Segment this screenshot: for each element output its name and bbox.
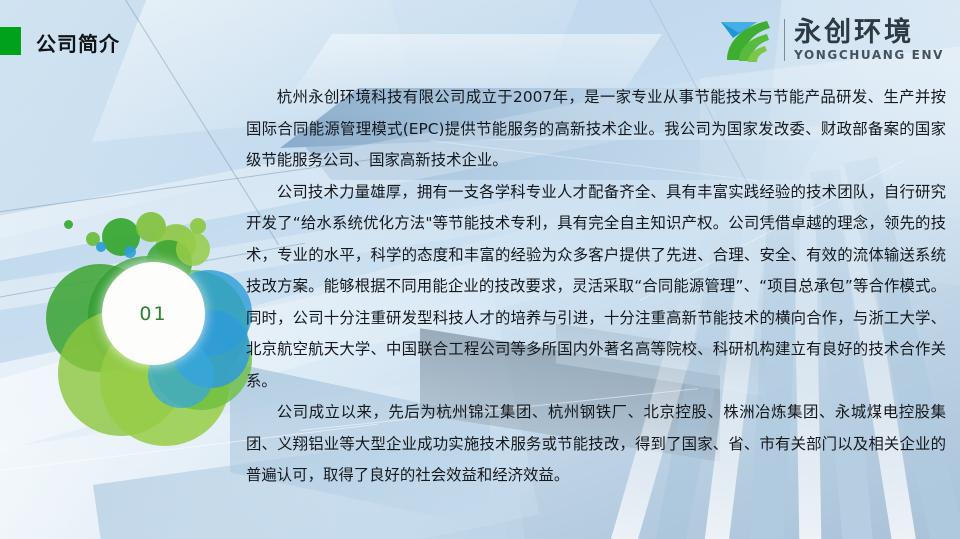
section-number-badge: 01 [40,212,255,427]
bubble [124,246,136,258]
bubble [64,220,73,229]
badge-number: 01 [102,262,205,365]
yongchuang-swoosh-icon [717,16,775,64]
company-logo: 永创环境 YONGCHUANG ENV [717,16,944,64]
bubble [96,242,106,252]
bubble [190,218,206,234]
slide-root: 公司简介 永创环境 YONGCHUANG ENV 01 杭州永创环境科技有限公司… [0,0,960,539]
logo-divider [784,19,785,61]
paragraph: 公司技术力量雄厚，拥有一支各学科专业人才配备齐全、具有丰富实践经验的技术团队，自… [246,177,946,398]
paragraph: 杭州永创环境科技有限公司成立于2007年，是一家专业从事节能技术与节能产品研发、… [246,82,946,177]
paragraph: 公司成立以来，先后为杭州锦江集团、杭州钢铁厂、北京控股、株洲冶炼集团、永城煤电控… [246,397,946,492]
logo-english-name: YONGCHUANG ENV [794,49,944,61]
bubble [176,232,210,266]
header-accent-marker [0,27,21,55]
company-profile-text: 杭州永创环境科技有限公司成立于2007年，是一家专业从事节能技术与节能产品研发、… [246,82,946,492]
logo-chinese-name: 永创环境 [794,19,944,46]
page-title: 公司简介 [36,28,120,57]
